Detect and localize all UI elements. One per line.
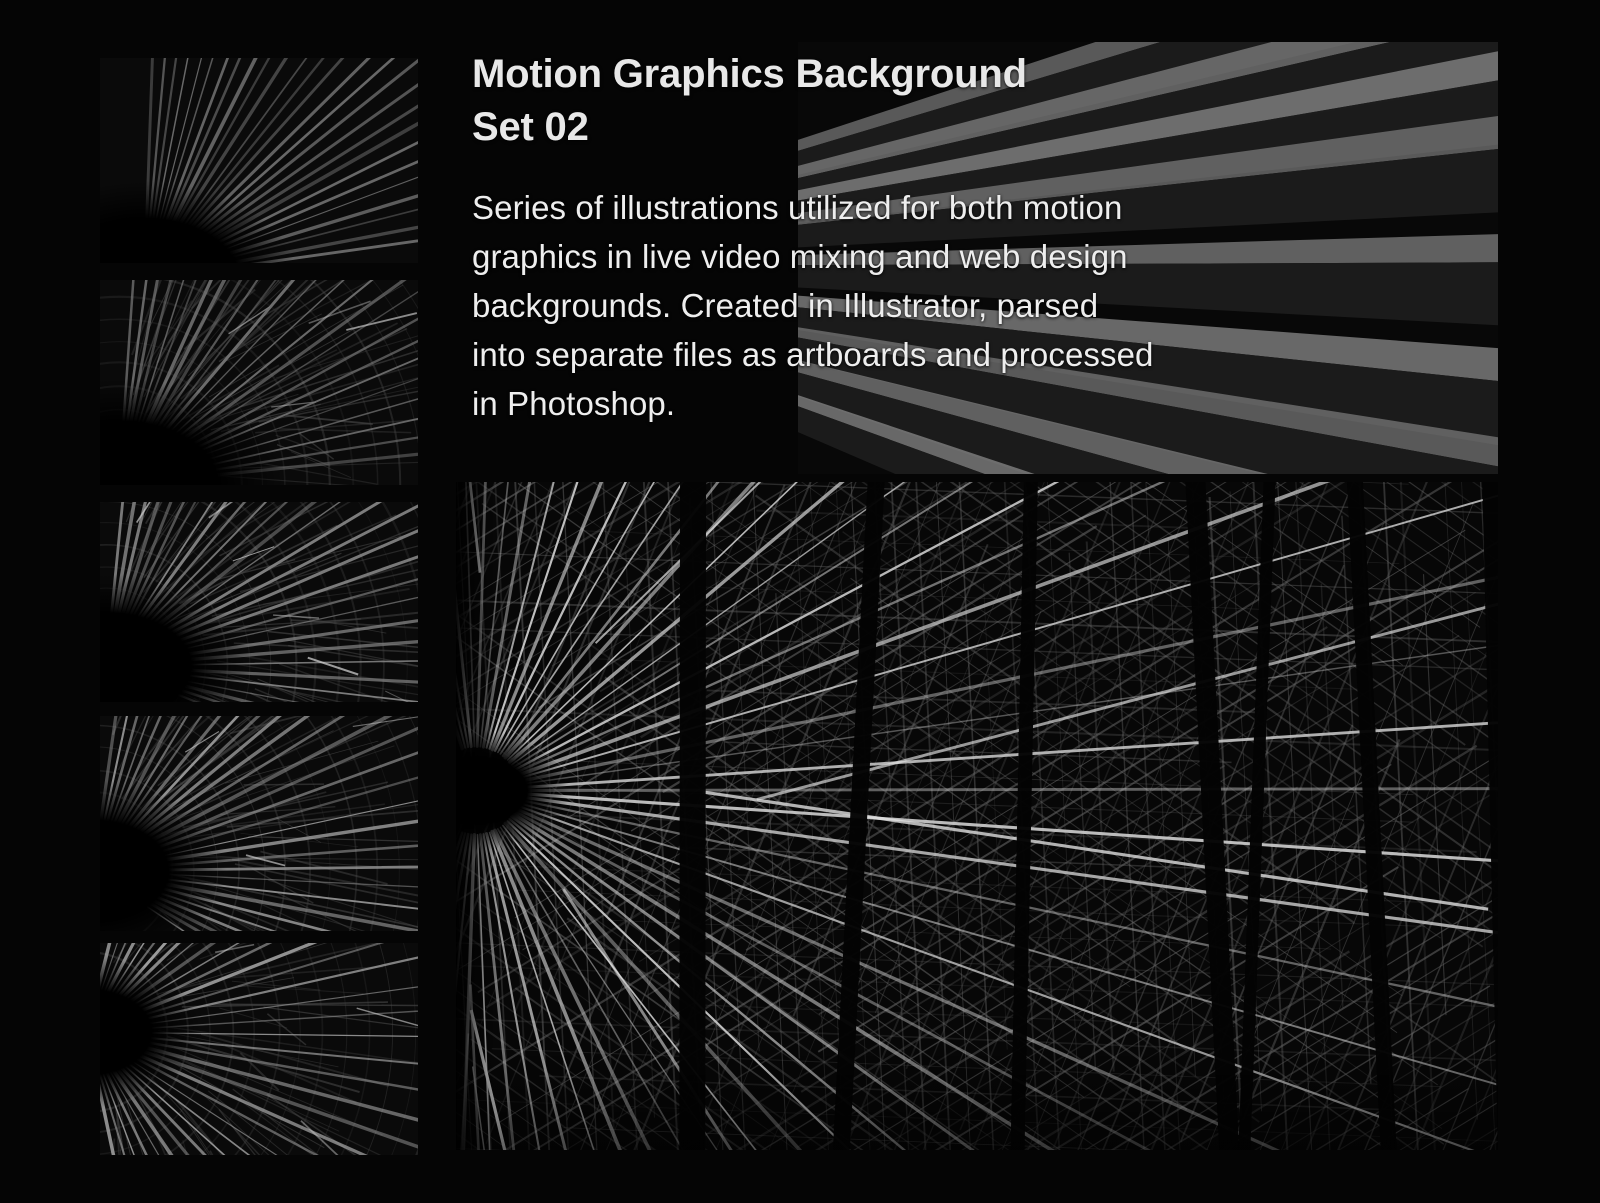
description-line-2: graphics in live video mixing and web de… [472,233,1212,282]
thumbnail-4-art [100,716,418,931]
thumbnail-4[interactable] [100,716,418,931]
description-line-4: into separate files as artboards and pro… [472,331,1212,380]
thumbnail-3[interactable] [100,502,418,702]
thumbnail-5-art [100,943,418,1155]
text-block: Motion Graphics Background Set 02 Series… [472,48,1212,429]
thumbnail-2[interactable] [100,280,418,485]
title-line-2: Set 02 [472,101,1212,154]
hero-radial-web-art [456,482,1498,1150]
description-paragraph: Series of illustrations utilized for bot… [472,184,1212,428]
title-line-1: Motion Graphics Background [472,52,1027,96]
thumbnail-3-art [100,502,418,702]
thumbnail-1[interactable] [100,58,418,263]
thumbnail-1-art [100,58,418,263]
thumbnail-column [100,58,418,1155]
description-line-5: in Photoshop. [472,380,1212,429]
thumbnail-2-art [100,280,418,485]
poster-canvas: Motion Graphics Background Set 02 Series… [0,0,1600,1203]
thumbnail-5[interactable] [100,943,418,1155]
description-line-1: Series of illustrations utilized for bot… [472,184,1212,233]
page-title: Motion Graphics Background Set 02 [472,48,1212,154]
hero-radial-web-panel[interactable] [456,482,1498,1150]
description-line-3: backgrounds. Created in Illustrator, par… [472,282,1212,331]
